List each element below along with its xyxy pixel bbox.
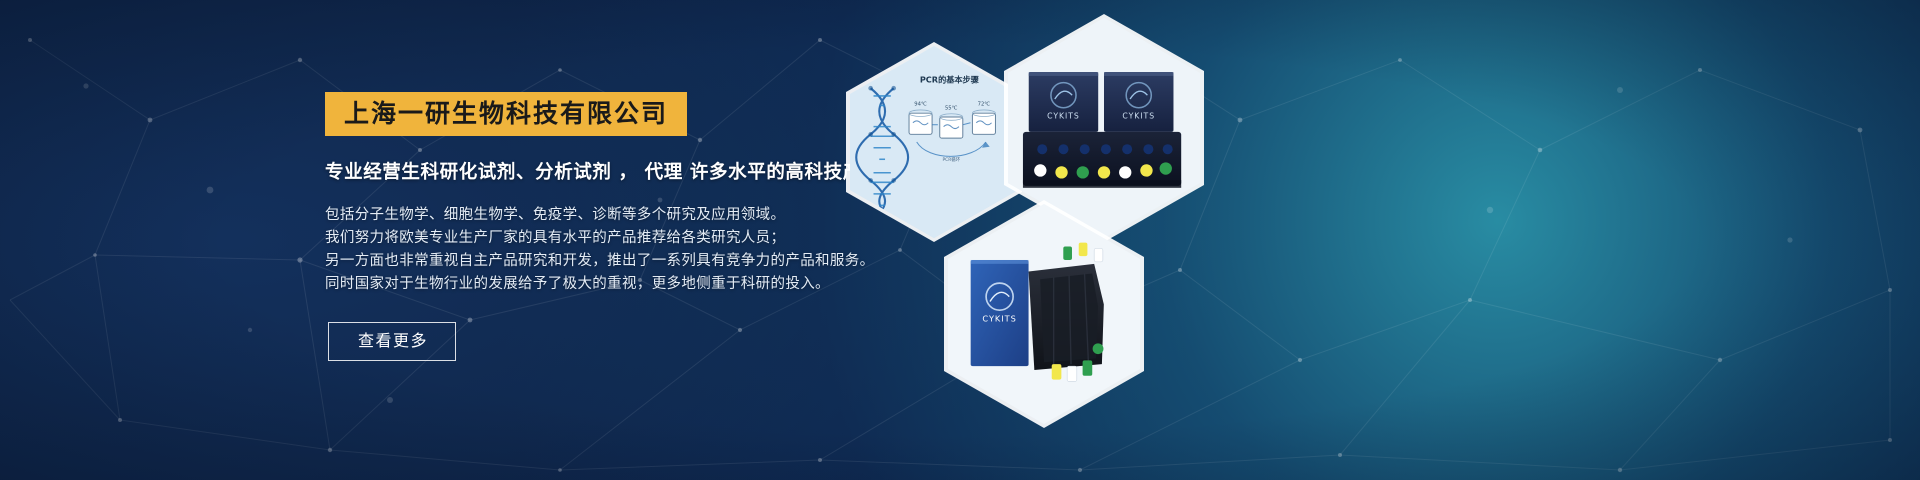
company-title-badge: 上海一研生物科技有限公司 xyxy=(325,92,687,136)
hero-banner: 上海一研生物科技有限公司 专业经营生科研化试剂、分析试剂 ， 代理 许多水平的高… xyxy=(0,0,1920,480)
svg-text:94℃: 94℃ xyxy=(914,102,927,108)
pcr-diagram-image: PCR的基本步骤 94℃ 55℃ 72℃ xyxy=(850,46,1018,238)
hex-tile-pcr-diagram[interactable]: PCR的基本步骤 94℃ 55℃ 72℃ xyxy=(846,42,1022,242)
hexagon-image-cluster: PCR的基本步骤 94℃ 55℃ 72℃ xyxy=(846,0,1266,480)
svg-text:CYKITS: CYKITS xyxy=(1122,111,1155,120)
svg-text:72℃: 72℃ xyxy=(978,102,991,108)
svg-text:55℃: 55℃ xyxy=(945,105,958,111)
view-more-button[interactable]: 查看更多 xyxy=(328,322,456,361)
svg-text:CYKITS: CYKITS xyxy=(982,314,1016,324)
svg-text:PCR的基本步骤: PCR的基本步骤 xyxy=(920,74,980,84)
svg-text:CYKITS: CYKITS xyxy=(1047,111,1080,120)
